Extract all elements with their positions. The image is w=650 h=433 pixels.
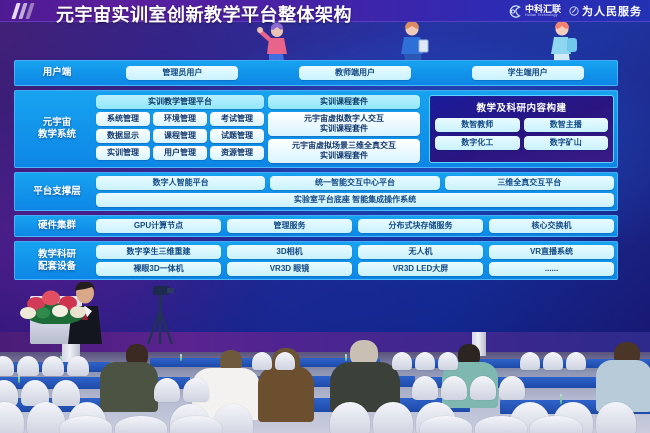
brand-secondary-cn: 为人民服务 — [582, 3, 642, 19]
chip-vr3d-led-screen[interactable]: VR3D LED大屏 — [358, 262, 483, 276]
research-panel-grid: 数智教师 数智主播 数字化工 数字矿山 — [435, 118, 608, 150]
chip-naked-eye-3d[interactable]: 裸眼3D一体机 — [96, 262, 221, 276]
row-hardware: 硬件集群 GPU计算节点 管理服务 分布式块存储服务 核心交换机 — [14, 215, 618, 237]
attendee-body — [100, 362, 158, 412]
module-column-1: 系统管理 数据显示 实训管理 — [96, 112, 150, 160]
chip-digital-twin-3d[interactable]: 数字孪生三维重建 — [96, 245, 221, 259]
brand-primary-en: Hollan Technology — [525, 14, 561, 18]
chair-row-far — [392, 352, 458, 370]
chip-course-suite[interactable]: 实训课程套件 — [268, 95, 420, 109]
chip-exam-mgmt[interactable]: 考试管理 — [210, 112, 264, 126]
metaverse-management-group: 实训教学管理平台 系统管理 数据显示 实训管理 环境管理 课程管理 用户管理 — [96, 95, 264, 163]
chip-vr-live-system[interactable]: VR直播系统 — [489, 245, 614, 259]
chip-drone[interactable]: 无人机 — [358, 245, 483, 259]
row-client: 用户端 管理员用户 教师端用户 学生端用户 — [14, 60, 618, 86]
row-label-devices: 教学科研 配套设备 — [18, 245, 96, 276]
row-body-platform: 数字人智能平台 统一智能交互中心平台 三维全真交互平台 实验室平台底座 智能集成… — [96, 176, 614, 207]
chair-row-far — [0, 356, 89, 376]
chip-question-mgmt[interactable]: 试题管理 — [210, 129, 264, 143]
architecture-diagram: 用户端 管理员用户 教师端用户 学生端用户 元宇宙 教学系统 实训教学管理平台 … — [14, 60, 618, 284]
chip-more-ellipsis[interactable]: ...... — [489, 262, 614, 276]
chair-row-mid — [412, 376, 525, 400]
brand-logo-primary: 中科汇联 Hollan Technology — [507, 4, 561, 19]
chip-system-mgmt[interactable]: 系统管理 — [96, 112, 150, 126]
swirl-logo-icon — [507, 4, 522, 19]
brand-logo-secondary: 为人民服务 — [569, 3, 642, 19]
photo-audience-hall — [0, 332, 650, 433]
device-column-3: 无人机 VR3D LED大屏 — [358, 245, 483, 276]
platform-top-group: 数字人智能平台 统一智能交互中心平台 三维全真交互平台 — [96, 176, 614, 190]
row-body-client: 管理员用户 教师端用户 学生端用户 — [96, 64, 614, 82]
chair-row-far — [252, 352, 295, 370]
row-body-hardware: GPU计算节点 管理服务 分布式块存储服务 核心交换机 — [96, 219, 614, 233]
chip-3d-camera[interactable]: 3D相机 — [227, 245, 352, 259]
chip-env-mgmt[interactable]: 环境管理 — [153, 112, 207, 126]
chair-row-nearest — [420, 416, 582, 433]
chip-student-user[interactable]: 学生端用户 — [472, 66, 584, 80]
chip-core-switch[interactable]: 核心交换机 — [489, 219, 614, 233]
chip-digital-anchor[interactable]: 数智主播 — [524, 118, 609, 132]
logo-group: 中科汇联 Hollan Technology 为人民服务 — [507, 3, 642, 19]
attendee-body — [258, 366, 314, 422]
chip-management-service[interactable]: 管理服务 — [227, 219, 352, 233]
device-column-2: 3D相机 VR3D 眼镜 — [227, 245, 352, 276]
chip-user-mgmt[interactable]: 用户管理 — [153, 146, 207, 160]
chip-digital-mine[interactable]: 数字矿山 — [524, 136, 609, 150]
row-body-metaverse: 实训教学管理平台 系统管理 数据显示 实训管理 环境管理 课程管理 用户管理 — [96, 95, 614, 163]
row-label-hardware: 硬件集群 — [18, 219, 96, 233]
water-bottle — [345, 354, 347, 361]
chip-data-display[interactable]: 数据显示 — [96, 129, 150, 143]
chip-training-mgmt[interactable]: 实训管理 — [96, 146, 150, 160]
chip-3d-scene-suite[interactable]: 元宇宙虚拟场景三维全真交互 实训课程套件 — [268, 139, 420, 163]
screenshot-root: 元宇宙实训室创新教学平台整体架构 中科汇联 Hollan Technology — [0, 0, 650, 433]
chip-course-mgmt[interactable]: 课程管理 — [153, 129, 207, 143]
row-metaverse: 元宇宙 教学系统 实训教学管理平台 系统管理 数据显示 实训管理 环境管理 — [14, 90, 618, 168]
chair-row-nearest — [60, 416, 222, 433]
module-column-2: 环境管理 课程管理 用户管理 — [153, 112, 207, 160]
chip-admin-user[interactable]: 管理员用户 — [126, 66, 238, 80]
row-label-client: 用户端 — [18, 64, 96, 82]
chair-row-far — [520, 352, 586, 370]
chip-unified-interaction-platform[interactable]: 统一智能交互中心平台 — [270, 176, 439, 190]
chip-block-storage-service[interactable]: 分布式块存储服务 — [358, 219, 483, 233]
row-label-metaverse: 元宇宙 教学系统 — [18, 95, 96, 163]
slide-title: 元宇宙实训室创新教学平台整体架构 — [56, 1, 352, 27]
metaverse-module-grid: 系统管理 数据显示 实训管理 环境管理 课程管理 用户管理 考试管理 — [96, 112, 264, 160]
chip-teacher-user[interactable]: 教师端用户 — [299, 66, 411, 80]
device-column-4: VR直播系统 ...... — [489, 245, 614, 276]
chip-resource-mgmt[interactable]: 资源管理 — [210, 146, 264, 160]
research-content-panel: 教学及科研内容构建 数智教师 数智主播 数字化工 数字矿山 — [429, 95, 614, 163]
chip-lab-base-os[interactable]: 实验室平台底座 智能集成操作系统 — [96, 193, 614, 207]
slash-decoration-icon — [11, 3, 56, 19]
research-panel-title: 教学及科研内容构建 — [435, 100, 608, 114]
row-label-platform: 平台支撑层 — [18, 176, 96, 207]
chip-vr3d-glasses[interactable]: VR3D 眼镜 — [227, 262, 352, 276]
row-body-devices: 数字孪生三维重建 裸眼3D一体机 3D相机 VR3D 眼镜 无人机 VR3D L… — [96, 245, 614, 276]
water-bottle — [180, 354, 182, 361]
slide-banner: 元宇宙实训室创新教学平台整体架构 中科汇联 Hollan Technology — [0, 0, 650, 22]
chip-gpu-node[interactable]: GPU计算节点 — [96, 219, 221, 233]
device-column-1: 数字孪生三维重建 裸眼3D一体机 — [96, 245, 221, 276]
row-platform: 平台支撑层 数字人智能平台 统一智能交互中心平台 三维全真交互平台 实验室平台底… — [14, 172, 618, 211]
chip-3d-interaction-platform[interactable]: 三维全真交互平台 — [445, 176, 614, 190]
module-column-3: 考试管理 试题管理 资源管理 — [210, 112, 264, 160]
chip-digital-human-platform[interactable]: 数字人智能平台 — [96, 176, 265, 190]
metaverse-courseware-group: 实训课程套件 元宇宙虚拟数字人交互 实训课程套件 元宇宙虚拟场景三维全真交互 实… — [268, 95, 420, 163]
chip-digital-human-suite[interactable]: 元宇宙虚拟数字人交互 实训课程套件 — [268, 112, 420, 136]
chair-row-mid — [154, 378, 209, 402]
seal-circle-icon — [569, 6, 579, 16]
row-devices: 教学科研 配套设备 数字孪生三维重建 裸眼3D一体机 3D相机 VR3D 眼镜 … — [14, 241, 618, 280]
chip-digital-teacher[interactable]: 数智教师 — [435, 118, 520, 132]
chip-digital-chemical[interactable]: 数字化工 — [435, 136, 520, 150]
photo-flower-arrangement — [18, 286, 92, 324]
chip-training-mgmt-platform[interactable]: 实训教学管理平台 — [96, 95, 264, 109]
photo-camera-tripod — [143, 286, 177, 344]
